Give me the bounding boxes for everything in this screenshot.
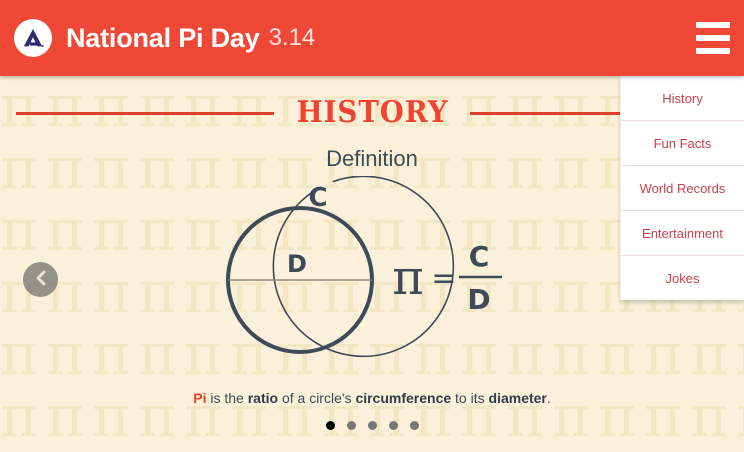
caption-term-diameter: diameter — [489, 390, 547, 406]
chevron-left-icon — [34, 269, 48, 290]
caption-term-circumference: circumference — [355, 390, 451, 406]
nav-dropdown: History Fun Facts World Records Entertai… — [620, 76, 744, 300]
nav-item-history[interactable]: History — [621, 76, 744, 121]
app-header: National Pi Day 3.14 — [0, 0, 744, 76]
formula-pi-symbol: π — [392, 250, 424, 306]
nav-item-entertainment[interactable]: Entertainment — [621, 211, 744, 256]
triangle-a-logo-icon — [14, 19, 52, 57]
carousel-prev-button[interactable] — [23, 262, 58, 297]
menu-bar-2 — [696, 35, 730, 41]
app-title: National Pi Day — [66, 23, 260, 54]
menu-bar-3 — [696, 48, 730, 54]
app-title-value: 3.14 — [269, 24, 316, 52]
carousel-dot-3[interactable] — [368, 421, 377, 430]
diameter-label: D — [287, 250, 307, 278]
definition-caption: Pi is the ratio of a circle's circumfere… — [0, 390, 744, 406]
caption-text-2: of a circle's — [278, 390, 355, 406]
pi-definition-diagram: C D π = C D — [196, 176, 536, 376]
menu-bar-1 — [696, 22, 730, 28]
nav-item-jokes[interactable]: Jokes — [621, 256, 744, 300]
carousel-dot-5[interactable] — [410, 421, 419, 430]
circumference-label: C — [308, 183, 327, 213]
carousel-dots — [0, 421, 744, 430]
nav-item-fun-facts[interactable]: Fun Facts — [621, 121, 744, 166]
hamburger-menu-icon[interactable] — [696, 22, 730, 54]
heading-rule-left — [16, 112, 274, 115]
page-title: HISTORY — [296, 98, 448, 128]
caption-text-3: to its — [451, 390, 488, 406]
carousel-dot-1[interactable] — [326, 421, 335, 430]
formula-equals-sign: = — [431, 261, 456, 296]
caption-text-4: . — [547, 390, 551, 406]
caption-term-ratio: ratio — [248, 390, 278, 406]
formula-numerator: C — [469, 240, 490, 273]
carousel-dot-4[interactable] — [389, 421, 398, 430]
carousel-dot-2[interactable] — [347, 421, 356, 430]
caption-text-1: is the — [206, 390, 247, 406]
nav-item-world-records[interactable]: World Records — [621, 166, 744, 211]
formula-denominator: D — [467, 283, 490, 316]
caption-term-pi: Pi — [193, 390, 206, 406]
brand-link[interactable]: National Pi Day 3.14 — [14, 19, 315, 57]
